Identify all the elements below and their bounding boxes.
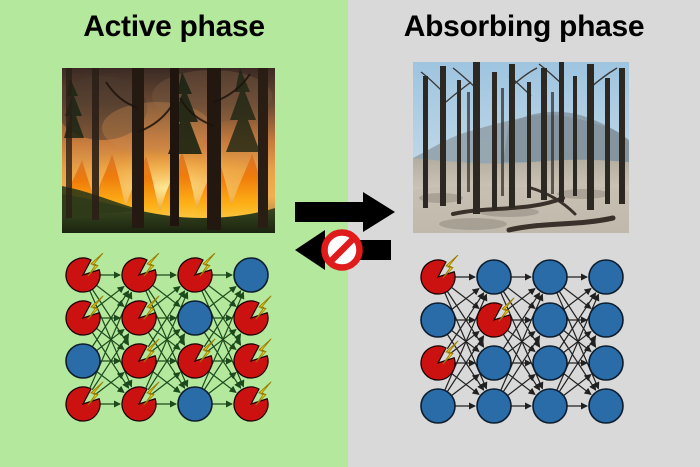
lattice-node-inactive[interactable] xyxy=(533,260,567,294)
lattice-node-inactive[interactable] xyxy=(589,346,623,380)
lattice-node-inactive[interactable] xyxy=(477,389,511,423)
lattice-edge xyxy=(152,285,179,306)
lattice-node-active[interactable] xyxy=(66,382,103,421)
page-title-absorbing: Absorbing phase xyxy=(348,10,700,44)
lattice-node-inactive[interactable] xyxy=(234,258,268,292)
lattice-node-inactive[interactable] xyxy=(589,260,623,294)
lattice-node-inactive[interactable] xyxy=(589,303,623,337)
forward-arrow xyxy=(295,192,395,232)
lattice-edge xyxy=(507,375,534,396)
lattice-node-active[interactable] xyxy=(234,339,271,378)
lattice-edge xyxy=(96,373,123,394)
lattice-node-inactive[interactable] xyxy=(178,301,212,335)
lattice-node-inactive[interactable] xyxy=(533,389,567,423)
forest-fire-photo xyxy=(62,68,275,233)
inactive-site-disc xyxy=(533,389,567,423)
lattice-node-inactive[interactable] xyxy=(589,389,623,423)
lattice-node-inactive[interactable] xyxy=(421,389,455,423)
inactive-site-disc xyxy=(234,258,268,292)
inactive-site-disc xyxy=(533,346,567,380)
page-title-active: Active phase xyxy=(0,10,348,44)
lattice-edge xyxy=(563,287,590,308)
lattice-node-active[interactable] xyxy=(122,382,159,421)
lattice-node-active[interactable] xyxy=(234,382,271,421)
lattice-active-phase xyxy=(57,253,275,425)
inactive-site-disc xyxy=(178,387,212,421)
inactive-site-disc xyxy=(477,389,511,423)
inactive-site-disc xyxy=(589,260,623,294)
lattice-edge xyxy=(563,375,590,396)
phase-transition-figure: Active phase Absorbing phase xyxy=(0,0,700,467)
lattice-edge xyxy=(96,285,123,306)
inactive-site-disc xyxy=(533,260,567,294)
lattice-edges xyxy=(445,277,599,406)
inactive-site-disc xyxy=(178,301,212,335)
lattice-node-inactive[interactable] xyxy=(421,303,455,337)
lattice-edge xyxy=(152,373,179,394)
inactive-site-disc xyxy=(421,303,455,337)
inactive-site-disc xyxy=(589,303,623,337)
transition-arrows xyxy=(291,190,409,275)
inactive-site-disc xyxy=(589,389,623,423)
lattice-node-inactive[interactable] xyxy=(66,344,100,378)
lattice-absorbing-phase xyxy=(412,255,630,427)
lattice-node-inactive[interactable] xyxy=(533,346,567,380)
lattice-edges xyxy=(90,275,244,404)
inactive-site-disc xyxy=(421,389,455,423)
lattice-node-inactive[interactable] xyxy=(178,387,212,421)
lattice-edge xyxy=(451,375,478,396)
inactive-site-disc xyxy=(533,303,567,337)
no-entry-icon xyxy=(323,231,361,269)
inactive-site-disc xyxy=(477,260,511,294)
inactive-site-disc xyxy=(589,346,623,380)
lattice-edge xyxy=(208,373,235,394)
lattice-edge xyxy=(451,287,478,308)
inactive-site-disc xyxy=(477,346,511,380)
inactive-site-disc xyxy=(66,344,100,378)
lattice-edge xyxy=(507,287,534,308)
lattice-node-inactive[interactable] xyxy=(477,260,511,294)
lattice-edge xyxy=(208,285,235,306)
lattice-node-inactive[interactable] xyxy=(533,303,567,337)
lattice-node-inactive[interactable] xyxy=(477,346,511,380)
burnt-forest-photo xyxy=(413,62,629,233)
